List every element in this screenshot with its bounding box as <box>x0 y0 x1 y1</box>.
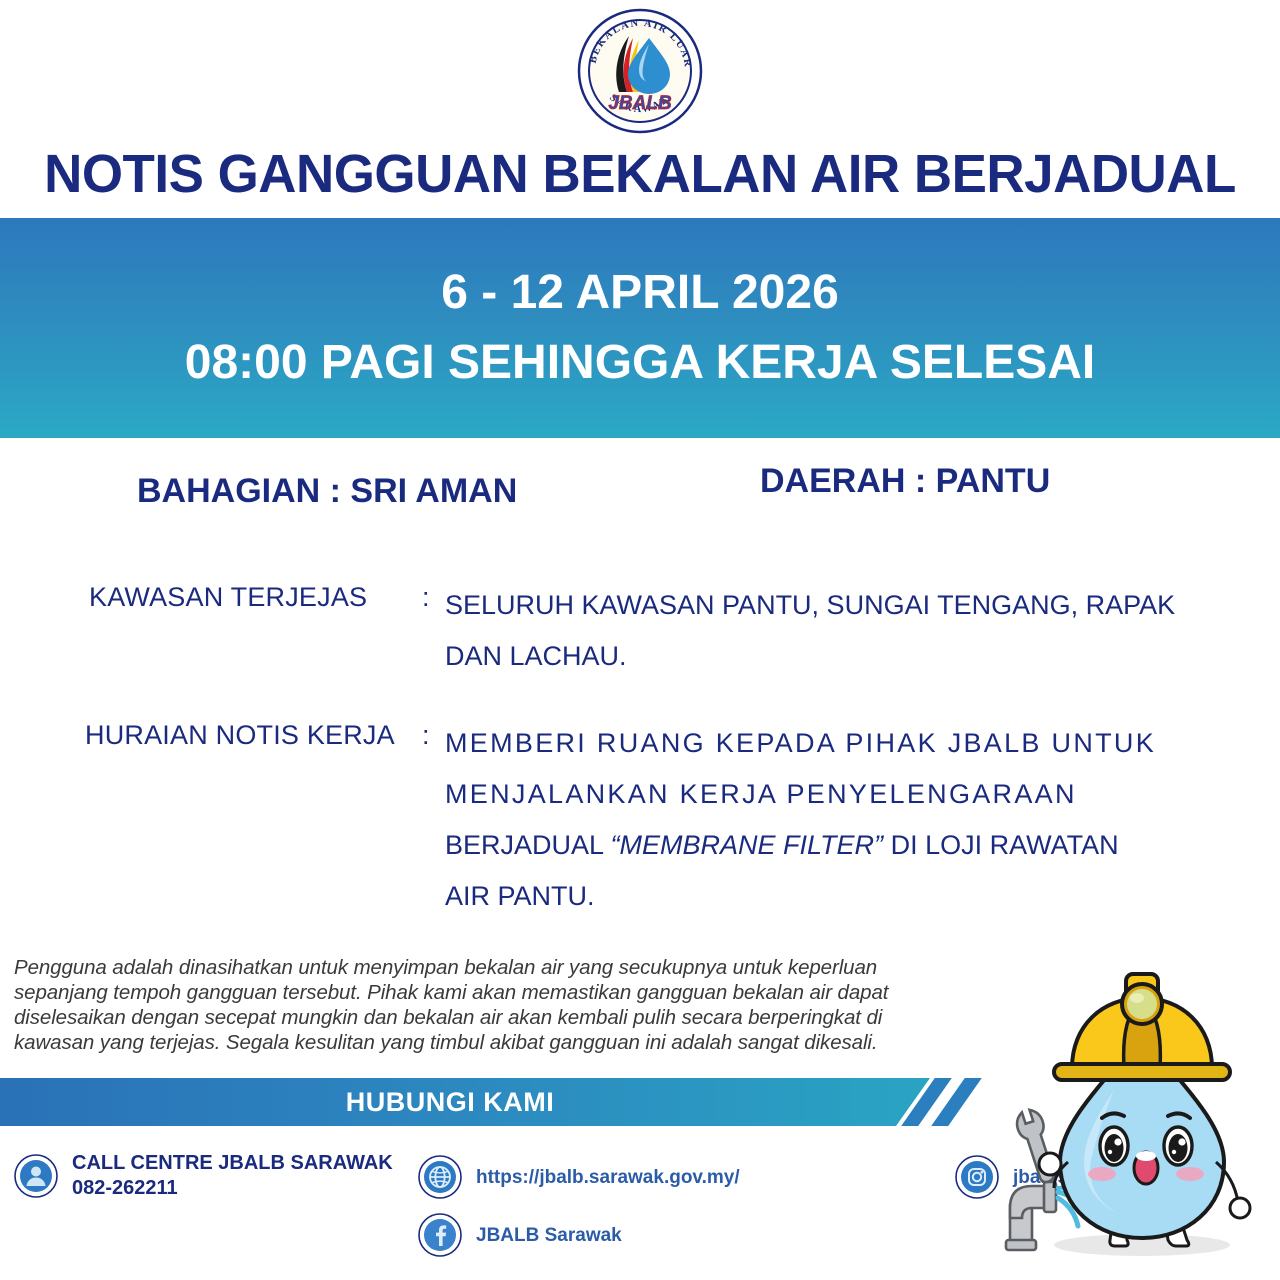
field-huraian-line-2: MENJALANKAN KERJA PENYELENGARAAN <box>445 769 1185 820</box>
field-kawasan-value: SELURUH KAWASAN PANTU, SUNGAI TENGANG, R… <box>445 580 1185 682</box>
field-huraian-value: MEMBERI RUANG KEPADA PIHAK JBALB UNTUK M… <box>445 718 1185 922</box>
huraian-line3-pre: BERJADUAL <box>445 830 611 860</box>
date-banner: 6 - 12 APRIL 2026 08:00 PAGI SEHINGGA KE… <box>0 218 1280 438</box>
contact-website[interactable]: https://jbalb.sarawak.gov.my/ <box>418 1155 740 1199</box>
contact-facebook[interactable]: JBALB Sarawak <box>418 1213 622 1257</box>
outage-time: 08:00 PAGI SEHINGGA KERJA SELESAI <box>185 328 1095 398</box>
field-huraian-line-4: AIR PANTU. <box>445 871 1185 922</box>
facebook-page: JBALB Sarawak <box>476 1225 622 1246</box>
jbalb-logo-icon: JABATAN BEKALAN AIR LUAR BANDAR SARAWAK … <box>577 8 703 134</box>
field-huraian-line-3: BERJADUAL “MEMBRANE FILTER” DI LOJI RAWA… <box>445 820 1185 871</box>
svg-text:JBALB: JBALB <box>608 93 672 114</box>
field-huraian-colon: : <box>422 720 430 751</box>
facebook-icon <box>418 1213 462 1257</box>
outage-date: 6 - 12 APRIL 2026 <box>441 258 839 328</box>
huraian-line3-post: DI LOJI RAWATAN <box>883 830 1119 860</box>
call-centre-line-2: 082-262211 <box>72 1176 393 1201</box>
daerah-label: DAERAH : PANTU <box>760 462 1050 501</box>
field-kawasan-label: KAWASAN TERJEJAS <box>89 582 367 613</box>
bahagian-label: BAHAGIAN : SRI AMAN <box>137 472 517 511</box>
person-icon <box>14 1154 58 1198</box>
page-title: NOTIS GANGGUAN BEKALAN AIR BERJADUAL <box>13 142 1267 206</box>
field-kawasan-line-1: SELURUH KAWASAN PANTU, SUNGAI TENGANG, R… <box>445 580 1185 631</box>
contact-call-centre-text: CALL CENTRE JBALB SARAWAK 082-262211 <box>72 1151 393 1201</box>
call-centre-line-1: CALL CENTRE JBALB SARAWAK <box>72 1152 393 1174</box>
website-url: https://jbalb.sarawak.gov.my/ <box>476 1167 740 1188</box>
water-droplet-worker-mascot <box>992 940 1280 1270</box>
contact-call-centre[interactable]: CALL CENTRE JBALB SARAWAK 082-262211 <box>14 1151 393 1201</box>
mascot-illustration <box>992 940 1280 1270</box>
contact-banner-title: HUBUNGI KAMI <box>0 1078 900 1126</box>
field-kawasan-colon: : <box>422 582 430 613</box>
field-huraian-label: HURAIAN NOTIS KERJA <box>85 720 395 751</box>
disclaimer-text: Pengguna adalah dinasihatkan untuk menyi… <box>14 955 924 1055</box>
field-kawasan-line-2: DAN LACHAU. <box>445 631 1185 682</box>
contact-website-text: https://jbalb.sarawak.gov.my/ <box>476 1165 740 1190</box>
huraian-line3-quote: “MEMBRANE FILTER” <box>611 830 884 860</box>
location-row: BAHAGIAN : SRI AMAN DAERAH : PANTU <box>0 472 1280 520</box>
poster-root: JABATAN BEKALAN AIR LUAR BANDAR SARAWAK … <box>0 0 1280 1280</box>
contact-facebook-text: JBALB Sarawak <box>476 1223 622 1248</box>
globe-icon <box>418 1155 462 1199</box>
field-huraian-line-1: MEMBERI RUANG KEPADA PIHAK JBALB UNTUK <box>445 718 1185 769</box>
jbalb-logo: JABATAN BEKALAN AIR LUAR BANDAR SARAWAK … <box>0 8 1280 134</box>
